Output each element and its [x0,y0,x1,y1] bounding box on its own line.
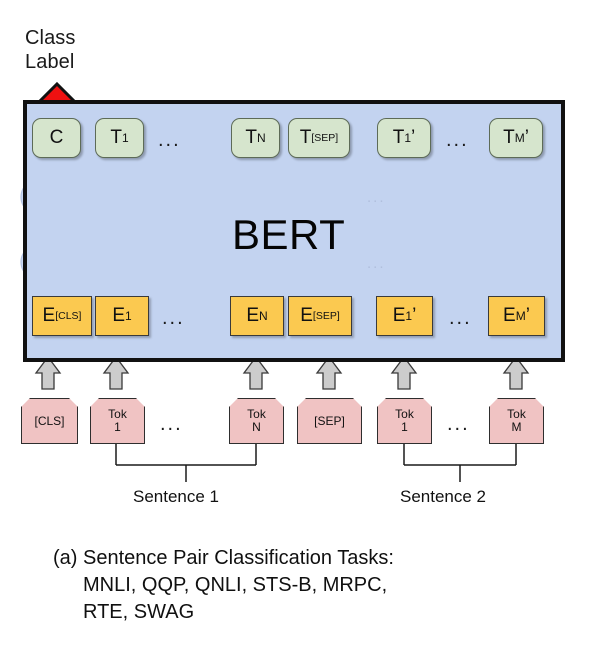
output-token-t1-prime[interactable]: T1’ [377,118,431,158]
output-token-c[interactable]: C [32,118,81,158]
output-token-tn-base: T [245,127,257,149]
embedding-en-base: E [246,305,259,327]
embedding-e1[interactable]: E1 [95,296,149,336]
embedding-en-sub: N [259,309,268,323]
embedding-esep-base: E [300,305,313,327]
output-token-tm-prime-sub: M [515,131,525,145]
embedding-en[interactable]: EN [230,296,284,336]
prime-mark: ’ [411,127,415,149]
embedding-row-ellipsis-2: ... [449,308,472,328]
embedding-e1-prime[interactable]: E1’ [376,296,433,336]
input-token-tok1[interactable]: Tok 1 [90,398,145,444]
bert-interior-ellipsis-lower: ... [367,256,386,271]
bert-sentence-pair-classification-diagram: Class Label [0,0,610,652]
output-token-t1-base: T [110,127,122,149]
prime-mark: ’ [525,127,529,149]
output-token-t1-prime-sub: 1 [404,131,411,145]
input-token-tok1b[interactable]: Tok 1 [377,398,432,444]
output-token-tm-prime[interactable]: TM’ [489,118,543,158]
embedding-row-ellipsis-1: ... [162,308,185,328]
embedding-em-prime-sub: M [516,309,526,323]
output-token-tsep-sub: [SEP] [311,132,338,144]
sentence-1-label: Sentence 1 [133,487,219,507]
output-row-ellipsis-1: ... [158,130,181,150]
embedding-e1-base: E [112,305,125,327]
caption-line-1: (a) Sentence Pair Classification Tasks: [53,545,573,572]
output-token-c-label: C [50,127,64,149]
output-token-t1[interactable]: T1 [95,118,144,158]
sentence-2-label: Sentence 2 [400,487,486,507]
caption-line-3: RTE, SWAG [53,599,573,626]
embedding-e1-sub: 1 [125,309,132,323]
embedding-esep-sub: [SEP] [313,310,340,322]
output-token-tsep[interactable]: T[SEP] [288,118,350,158]
input-token-tokm[interactable]: Tok M [489,398,544,444]
input-row-ellipsis-1: ... [160,414,183,434]
bert-model-label: BERT [232,214,345,256]
embedding-esep[interactable]: E[SEP] [288,296,352,336]
prime-mark: ’ [412,305,416,327]
output-row-ellipsis-2: ... [446,130,469,150]
input-row-ellipsis-2: ... [447,414,470,434]
output-token-t1-sub: 1 [122,131,129,145]
input-token-sep[interactable]: [SEP] [297,398,362,444]
embedding-e1-prime-sub: 1 [405,309,412,323]
embedding-e1-prime-base: E [393,305,406,327]
figure-caption: (a) Sentence Pair Classification Tasks: … [53,545,573,626]
sentence-2-bracket [404,444,516,482]
input-token-cls[interactable]: [CLS] [21,398,78,444]
prime-mark: ’ [526,305,530,327]
embedding-ecls-base: E [43,305,56,327]
caption-line-2: MNLI, QQP, QNLI, STS-B, MRPC, [53,572,573,599]
input-token-tokn[interactable]: Tok N [229,398,284,444]
output-token-t1-prime-base: T [393,127,405,149]
embedding-ecls-sub: [CLS] [55,310,81,322]
embedding-ecls[interactable]: E[CLS] [32,296,92,336]
output-token-tm-prime-base: T [503,127,515,149]
output-token-tn[interactable]: TN [231,118,280,158]
embedding-em-prime[interactable]: EM’ [488,296,545,336]
output-token-tn-sub: N [257,131,266,145]
embedding-em-prime-base: E [503,305,516,327]
sentence-1-bracket [116,444,256,482]
output-token-tsep-base: T [300,127,312,149]
bert-interior-ellipsis-upper: ... [367,190,386,205]
